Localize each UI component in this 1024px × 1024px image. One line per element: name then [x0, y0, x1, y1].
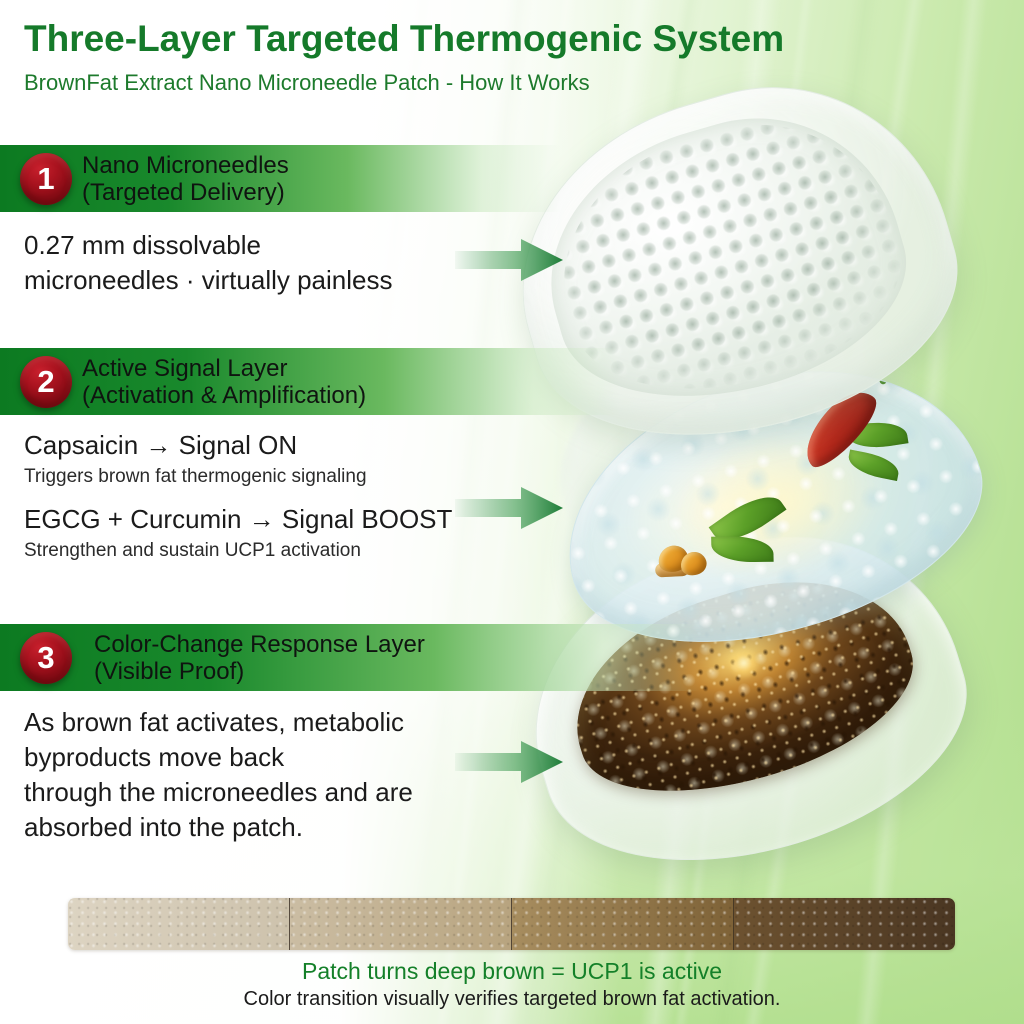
color-strip-segment	[734, 898, 955, 950]
step-3-body-line-2: byproducts move back	[24, 740, 413, 775]
step-2-badge: 2	[20, 356, 72, 408]
step-3-band: 3 Color-Change Response Layer (Visible P…	[0, 624, 700, 691]
step-2-arrow-icon	[455, 486, 563, 530]
step-2-title-line2: (Activation & Amplification)	[82, 382, 366, 409]
color-strip-segment	[290, 898, 512, 950]
color-strip-segment	[512, 898, 734, 950]
step-3-body-line-1: As brown fat activates, metabolic	[24, 705, 413, 740]
step-1-body-line-2: microneedles · virtually painless	[24, 263, 392, 298]
step-1-arrow-icon	[455, 238, 563, 282]
step-2-title-line1: Active Signal Layer	[82, 355, 366, 382]
color-strip-segment	[68, 898, 290, 950]
page-title: Three-Layer Targeted Thermogenic System	[24, 18, 784, 60]
step-1-titles: Nano Microneedles (Targeted Delivery)	[82, 152, 289, 206]
infographic-root: Three-Layer Targeted Thermogenic System …	[0, 0, 1024, 1024]
step-2-body: Capsaicin → Signal ON Triggers brown fat…	[24, 428, 452, 564]
step-3-body-line-3: through the microneedles and are	[24, 775, 413, 810]
page-subtitle: BrownFat Extract Nano Microneedle Patch …	[24, 70, 590, 96]
step-3-badge: 3	[20, 632, 72, 684]
strip-speckle-texture	[734, 898, 955, 950]
step-1-title-line2: (Targeted Delivery)	[82, 179, 289, 206]
step-2-body-line-1: Capsaicin → Signal ON	[24, 428, 452, 463]
step-3-body-line-4: absorbed into the patch.	[24, 810, 413, 845]
step-1-badge: 1	[20, 153, 72, 205]
step-1-body: 0.27 mm dissolvable microneedles · virtu…	[24, 228, 392, 298]
strip-speckle-texture	[290, 898, 511, 950]
step-2-body-line-3: EGCG + Curcumin → Signal BOOST	[24, 502, 452, 537]
strip-speckle-texture	[68, 898, 289, 950]
step-3-arrow-icon	[455, 740, 563, 784]
step-2-titles: Active Signal Layer (Activation & Amplif…	[82, 355, 366, 409]
strip-speckle-texture	[512, 898, 733, 950]
step-1-band: 1 Nano Microneedles (Targeted Delivery)	[0, 145, 560, 212]
step-3-titles: Color-Change Response Layer (Visible Pro…	[94, 631, 425, 685]
step-1-body-line-1: 0.27 mm dissolvable	[24, 228, 392, 263]
color-transition-strip	[68, 898, 955, 950]
step-3-body: As brown fat activates, metabolic byprod…	[24, 705, 413, 845]
step-2-band: 2 Active Signal Layer (Activation & Ampl…	[0, 348, 620, 415]
step-2-body-line-2: Triggers brown fat thermogenic signaling	[24, 463, 452, 490]
step-2-body-line-4: Strengthen and sustain UCP1 activation	[24, 537, 452, 564]
strip-caption-secondary: Color transition visually verifies targe…	[0, 988, 1024, 1011]
step-3-title-line2: (Visible Proof)	[94, 658, 425, 685]
step-3-title-line1: Color-Change Response Layer	[94, 631, 425, 658]
strip-caption-primary: Patch turns deep brown = UCP1 is active	[0, 958, 1024, 985]
step-1-title-line1: Nano Microneedles	[82, 152, 289, 179]
